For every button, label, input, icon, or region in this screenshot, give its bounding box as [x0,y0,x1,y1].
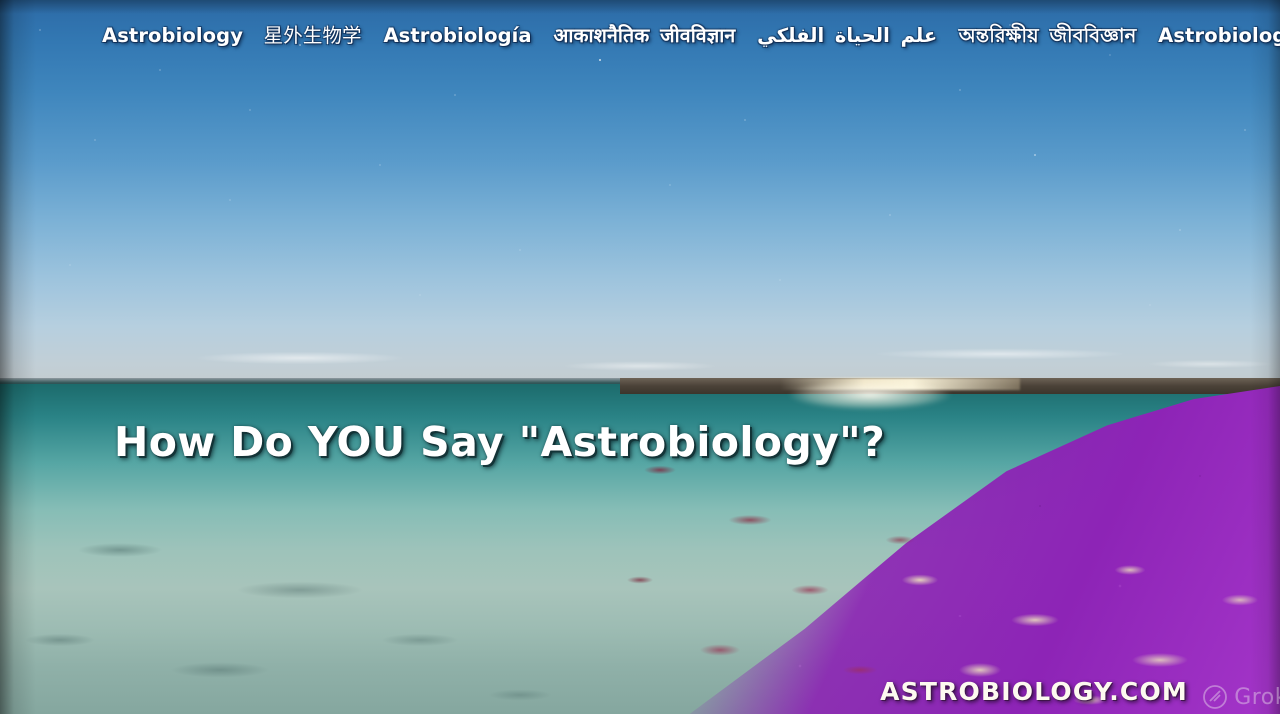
cloud-band [0,336,1280,384]
translation-word: Astrobiologia [1136,24,1280,47]
page-title: How Do YOU Say "Astrobiology"? [114,418,885,466]
translation-word: Astrobiología [362,24,532,47]
translation-word: Astrobiology [102,24,243,47]
site-brand: ASTROBIOLOGY.COM [880,677,1188,706]
grok-watermark-label: Grok [1234,685,1280,710]
translation-word: आकाशनैतिक जीवविज्ञान [532,24,736,47]
translation-word: অন্তরিক্ষীয় জীববিজ্ঞান [937,24,1136,47]
translation-word: 星外生物学 [243,24,362,47]
grok-watermark: Grok [1202,684,1280,710]
translation-word: علم الحياة الفلكي [735,24,937,47]
translation-word-cloud: Astrobiology星外生物学Astrobiologíaआकाशनैतिक … [102,22,1182,50]
grok-logo-icon [1202,684,1228,710]
screenshot-stage: Astrobiology星外生物学Astrobiologíaआकाशनैतिक … [0,0,1280,714]
sun-glare [760,372,980,418]
